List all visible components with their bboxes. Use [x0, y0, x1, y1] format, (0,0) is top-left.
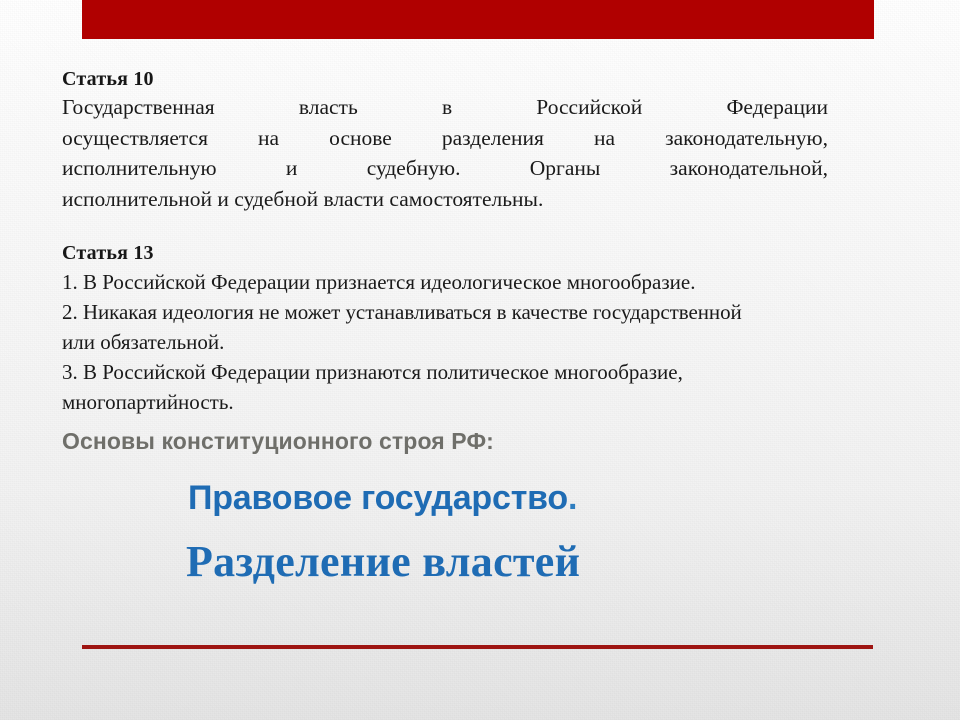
summary-point-1: Правовое государство. [188, 477, 950, 519]
summary-heading: Основы конституционного строя РФ: [62, 426, 950, 456]
article-10-line-4: исполнительной и судебной власти самосто… [62, 184, 828, 215]
article-13-item-2-line-1: 2. Никакая идеология не может устанавлив… [62, 297, 950, 327]
summary-point-2: Разделение властей [186, 536, 950, 587]
article-10-line-2: осуществляется на основе разделения на з… [62, 123, 828, 154]
article-13-heading: Статья 13 [62, 240, 950, 266]
summary-point-1-label: Правовое государство [188, 479, 568, 517]
article-13-item-2-line-2: или обязательной. [62, 327, 950, 357]
article-10-body: Государственная власть в Российской Феде… [62, 92, 828, 214]
article-10-line-3: исполнительную и судебную. Органы законо… [62, 153, 828, 184]
article-13-item-3-line-2: многопартийность. [62, 387, 950, 417]
summary-point-1-period: . [568, 479, 577, 517]
article-13-body: 1. В Российской Федерации признается иде… [62, 267, 950, 417]
article-13-item-1: 1. В Российской Федерации признается иде… [62, 267, 950, 297]
article-13-item-3-line-1: 3. В Российской Федерации признаются пол… [62, 357, 950, 387]
slide-canvas: Статья 10 Государственная власть в Росси… [0, 0, 960, 720]
bottom-red-rule [82, 645, 873, 649]
article-10-line-1: Государственная власть в Российской Феде… [62, 92, 828, 123]
top-red-banner [82, 0, 874, 39]
article-10-heading: Статья 10 [62, 66, 950, 92]
slide-content: Статья 10 Государственная власть в Росси… [62, 66, 950, 587]
